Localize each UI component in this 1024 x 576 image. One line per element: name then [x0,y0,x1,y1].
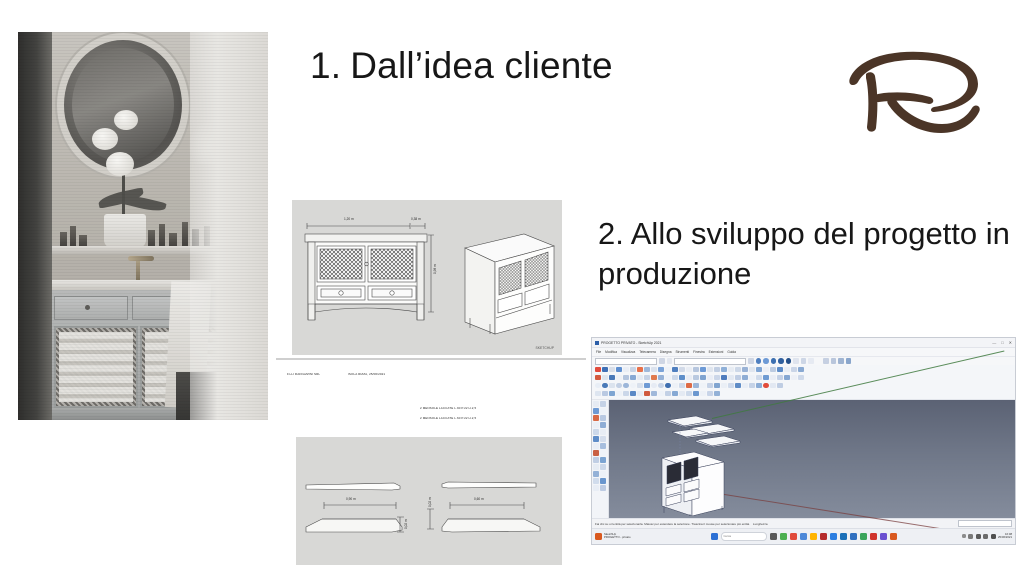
chevron-up-icon[interactable] [962,534,966,538]
extension-manager-icon[interactable] [798,375,804,381]
copy-icon[interactable] [693,383,699,389]
toolbar-row-1[interactable] [595,366,1012,373]
rectangle-tool-icon[interactable] [616,367,622,373]
soften-edges-icon[interactable] [770,375,776,381]
smoove-icon[interactable] [651,375,657,381]
main-toolbars[interactable] [592,365,1015,400]
plugin-f-icon[interactable] [630,391,636,397]
next-view-icon[interactable] [700,375,706,381]
tape-measure-icon[interactable] [672,367,678,373]
cad-company-name: F.LLI RAFFAZZINI SRL [287,372,320,376]
zoom-tool-icon[interactable] [721,367,727,373]
start-icon[interactable] [711,533,718,540]
heading-one-text: Dall’idea cliente [350,45,613,86]
search-placeholder: Cerca [724,534,731,538]
geo-location-icon[interactable] [735,375,741,381]
fog-icon[interactable] [846,358,852,364]
offset-tool-icon[interactable] [665,367,671,373]
position-camera-icon[interactable] [686,375,692,381]
sketchup-pinned-icon[interactable] [890,533,897,540]
cad-shelf-right-width: 0,60 m [474,497,484,501]
chevron-down-icon[interactable] [659,358,665,364]
lt-icon-11[interactable] [593,436,599,442]
match-photo-icon[interactable] [728,375,734,381]
cad-watermark: SKETCHUP [536,346,554,350]
viewport[interactable] [592,400,1015,518]
follow-me-icon[interactable] [630,375,636,381]
plugin-o-icon[interactable] [693,391,699,397]
lt-icon-25[interactable] [593,485,599,491]
look-around-icon[interactable] [742,367,748,373]
shadows-panel-icon[interactable] [798,367,804,373]
chrome-icon[interactable] [880,533,887,540]
print-icon[interactable] [721,383,727,389]
rotate-tool-icon[interactable] [651,367,657,373]
task-view-icon[interactable] [770,533,777,540]
cad-bom-line-1: 2 MENSOLE LACCATE L.90 P.22 H.2,5 [420,406,476,410]
plugin-r-icon[interactable] [714,391,720,397]
menu-item-camera[interactable]: Telecamera [639,350,655,354]
measurement-label: Lunghezza [753,522,768,526]
sketchup-window[interactable]: PROGETTO PRIVATO - SketchUp 2021 — □ ✕ F… [591,337,1016,545]
menu-item-tools[interactable]: Strumenti [676,350,690,354]
rampazzini-r-logo [838,34,998,134]
stamp-icon[interactable] [658,375,664,381]
sketchup-app-icon [595,341,599,345]
trimble-connect-icon[interactable] [651,383,657,389]
outliner-icon[interactable] [777,367,783,373]
cut-icon[interactable] [686,383,692,389]
view-iso-icon[interactable] [756,358,762,364]
menu-item-draw[interactable]: Disegna [660,350,672,354]
plugin-n-icon[interactable] [686,391,692,397]
windows-taskbar[interactable]: SketchUp PROGETTO - privato Cerca [592,528,1015,543]
taskbar-clock[interactable]: 16:08 25/06/2021 [998,533,1012,539]
outlook-icon[interactable] [850,533,857,540]
maximize-icon[interactable]: □ [1001,340,1003,345]
scale-tool-icon[interactable] [658,367,664,373]
help-icon[interactable] [770,383,776,389]
widgets-icon[interactable] [780,533,787,540]
taskbar-pinned-icons[interactable]: Cerca [711,532,897,541]
status-message: Fai clic su un’entità per selezionarla. … [595,522,750,526]
lt-icon-13[interactable] [593,443,599,449]
sketchup-taskbar-icon[interactable] [595,533,602,540]
plugin-d-icon[interactable] [616,391,622,397]
lt-icon-23[interactable] [593,478,599,484]
component-options-icon[interactable] [609,383,615,389]
lt-icon-22[interactable] [600,471,606,477]
cad-elevation-panel: 1,20 m 0,38 m 0,98 m SKETCHUP [292,200,562,355]
cad-dim-width: 1,20 m [344,217,354,221]
window-controls[interactable]: — □ ✕ [992,340,1012,345]
two-point-perspective-icon[interactable] [721,375,727,381]
plugin-p-icon[interactable] [700,391,706,397]
undo-icon[interactable] [707,383,713,389]
lt-icon-7[interactable] [593,422,599,428]
toolbar-row-2[interactable] [595,374,1012,381]
lt-icon-6[interactable] [600,415,606,421]
lt-icon-16[interactable] [600,450,606,456]
import-icon[interactable] [756,383,762,389]
mail-icon[interactable] [790,533,797,540]
cad-sheet-divider [276,358,586,360]
menu-item-file[interactable]: File [596,350,601,354]
sandbox-tools-icon[interactable] [637,383,643,389]
plugin-l-icon[interactable] [672,391,678,397]
section-plane-icon[interactable] [749,367,755,373]
lt-icon-14[interactable] [600,443,606,449]
cad-dim-height: 0,98 m [433,264,437,274]
reference-photo-bathroom [18,32,268,420]
lt-icon-10[interactable] [600,429,606,435]
heading-step-one: 1.Dall’idea cliente [310,45,613,87]
view-right-icon[interactable] [778,358,784,364]
pushpull-tool-icon[interactable] [637,367,643,373]
drape-icon[interactable] [665,375,671,381]
lt-icon-8[interactable] [600,422,606,428]
photo-grain-overlay [18,32,268,420]
battery-icon[interactable] [991,534,996,539]
warehouse-icon[interactable] [742,375,748,381]
pdf-icon[interactable] [870,533,877,540]
model-cabinet-with-shelves[interactable] [650,414,800,516]
solid-subtract-icon[interactable] [602,375,608,381]
preferences-icon[interactable] [791,375,797,381]
onedrive-icon[interactable] [968,534,973,539]
teams-icon[interactable] [840,533,847,540]
lt-icon-24[interactable] [600,478,606,484]
sandbox-from-scratch-icon[interactable] [644,375,650,381]
explorer-icon[interactable] [810,533,817,540]
plugin-a-icon[interactable] [595,391,601,397]
component-icon[interactable] [763,367,769,373]
lt-icon-2[interactable] [600,401,606,407]
plugin-j-icon[interactable] [658,391,664,397]
line-tool-icon[interactable] [609,367,615,373]
minimize-icon[interactable]: — [992,340,996,345]
zoom-extents-icon[interactable] [728,367,734,373]
previous-view-icon[interactable] [693,375,699,381]
edge-icon[interactable] [800,533,807,540]
cad-shelf-left-width: 0,90 m [346,497,356,501]
lt-icon-26[interactable] [600,485,606,491]
dynamic-component-icon[interactable] [595,383,601,389]
instructor-icon[interactable] [763,375,769,381]
menu-item-edit[interactable]: Modifica [605,350,617,354]
solid-union-icon[interactable] [595,375,601,381]
move-tool-icon[interactable] [644,367,650,373]
cad-shelf-left-thickness: 0,02 m [404,519,408,529]
orbit-tool-icon[interactable] [707,367,713,373]
menu-item-help[interactable]: Guida [727,350,736,354]
taskbar-app-entry[interactable]: SketchUp PROGETTO - privato [595,533,631,540]
cad-location-date: ISOLA RIZZA, 25/06/2021 [348,372,385,376]
view-front-icon[interactable] [771,358,777,364]
style-xray-icon[interactable] [831,358,837,364]
tag-settings-icon[interactable] [667,358,673,364]
component-attributes-icon[interactable] [616,383,622,389]
sandbox-from-contours-icon[interactable] [637,375,643,381]
view-back-icon[interactable] [786,358,792,364]
lt-icon-4[interactable] [600,408,606,414]
interact-icon[interactable] [602,383,608,389]
taskbar-app-sub: PROGETTO - privato [604,535,631,539]
left-toolbar[interactable] [592,400,609,518]
plugin-g-icon[interactable] [637,391,643,397]
eraser-tool-icon[interactable] [602,367,608,373]
paint-bucket-icon[interactable] [756,367,762,373]
plugin-e-icon[interactable] [623,391,629,397]
volume-icon[interactable] [983,534,988,539]
solid-trim-icon[interactable] [616,375,622,381]
paste-icon[interactable] [700,383,706,389]
fog-panel-icon[interactable] [777,375,783,381]
heading-step-two: 2. Allo sviluppo del progetto in produzi… [598,214,1013,293]
style-texture-icon[interactable] [816,358,822,364]
heading-one-number: 1. [310,45,341,86]
tag-select-input[interactable] [595,358,657,365]
lt-icon-21[interactable] [593,471,599,477]
cad-dim-depth: 0,38 m [411,217,421,221]
entity-info-icon[interactable] [756,375,762,381]
lt-icon-17[interactable] [593,457,599,463]
menu-item-view[interactable]: Visualizza [621,350,635,354]
lt-icon-5[interactable] [593,415,599,421]
window-title-text: PROGETTO PRIVATO - SketchUp 2021 [601,341,661,345]
group-icon[interactable] [770,367,776,373]
plugin-b-icon[interactable] [602,391,608,397]
view-top-icon[interactable] [763,358,769,364]
status-bar: Fai clic su un’entità per selezionarla. … [592,518,1015,528]
plugin-h-icon[interactable] [644,391,650,397]
protractor-icon[interactable] [679,367,685,373]
open-file-icon[interactable] [735,383,741,389]
lt-icon-9[interactable] [593,429,599,435]
lt-icon-15[interactable] [593,450,599,456]
clock-date: 25/06/2021 [998,535,1012,539]
lt-icon-3[interactable] [593,408,599,414]
cad-bom-line-2: 2 MENSOLE LACCATE L.60 P.22 H.2,5 [420,416,476,420]
styles-icon[interactable] [784,367,790,373]
window-title-bar: PROGETTO PRIVATO - SketchUp 2021 — □ ✕ [592,338,1015,348]
store-icon[interactable] [820,533,827,540]
tag-toolbar[interactable] [592,357,1015,365]
plugin-c-icon[interactable] [609,391,615,397]
solid-split-icon[interactable] [623,375,629,381]
arc-tool-icon[interactable] [630,367,636,373]
excel-icon[interactable] [860,533,867,540]
word-icon[interactable] [830,533,837,540]
network-icon[interactable] [976,534,981,539]
lt-icon-18[interactable] [600,457,606,463]
flip-edge-icon[interactable] [679,375,685,381]
parallel-projection-icon[interactable] [714,375,720,381]
menu-bar[interactable]: File Modifica Visualizza Telecamera Dise… [592,348,1015,357]
layer-select-input[interactable] [674,358,746,365]
presentation-slide: 1.Dall’idea cliente 2. Allo sviluppo del… [0,0,1024,576]
new-file-icon[interactable] [728,383,734,389]
menu-item-extensions[interactable]: Estensioni [709,350,724,354]
record-icon[interactable] [763,383,769,389]
circle-tool-icon[interactable] [623,367,629,373]
plugin-q-icon[interactable] [707,391,713,397]
solid-tools-icon[interactable] [644,383,650,389]
add-detail-icon[interactable] [672,375,678,381]
materials-icon[interactable] [749,375,755,381]
toolbar-row-3[interactable] [595,382,1012,389]
perspective-icon[interactable] [707,375,713,381]
pan-tool-icon[interactable] [714,367,720,373]
axes-tool-icon[interactable] [693,367,699,373]
redo-icon[interactable] [714,383,720,389]
lt-icon-20[interactable] [600,464,606,470]
export-icon[interactable] [749,383,755,389]
taskbar-tray[interactable]: 16:08 25/06/2021 [962,533,1013,539]
plugin-m-icon[interactable] [679,391,685,397]
cad-shelf-right-thickness: 0,02 m [428,497,432,507]
classifier-icon[interactable] [623,383,629,389]
dimension-tool-icon[interactable] [700,367,706,373]
style-monochrome-icon[interactable] [823,358,829,364]
menu-item-window[interactable]: Finestra [693,350,705,354]
layout-icon[interactable] [672,383,678,389]
cad-sheet-header [276,358,586,434]
chevron-down-icon[interactable] [748,358,754,364]
shadow-icon[interactable] [838,358,844,364]
publish-icon[interactable] [658,383,664,389]
solid-intersect-icon[interactable] [609,375,615,381]
advanced-camera-icon[interactable] [630,383,636,389]
model-info-icon[interactable] [784,375,790,381]
plugin-k-icon[interactable] [665,391,671,397]
close-icon[interactable]: ✕ [1009,340,1012,345]
style-wireframe-icon[interactable] [793,358,799,364]
lt-icon-12[interactable] [600,436,606,442]
measurement-input[interactable] [958,520,1012,527]
lt-icon-1[interactable] [593,401,599,407]
taskbar-search[interactable]: Cerca [721,532,767,541]
style-hiddenline-icon[interactable] [801,358,807,364]
walk-tool-icon[interactable] [735,367,741,373]
save-file-icon[interactable] [742,383,748,389]
select-tool-icon[interactable] [595,367,601,373]
scenes-icon[interactable] [791,367,797,373]
cad-shelf-panel: 0,90 m 0,02 m 0,60 m 0,02 m [296,437,562,565]
style-builder-icon[interactable] [679,383,685,389]
text-tool-icon[interactable] [686,367,692,373]
lt-icon-19[interactable] [593,464,599,470]
plugin-i-icon[interactable] [651,391,657,397]
sync-icon[interactable] [665,383,671,389]
style-shaded-icon[interactable] [808,358,814,364]
about-icon[interactable] [777,383,783,389]
